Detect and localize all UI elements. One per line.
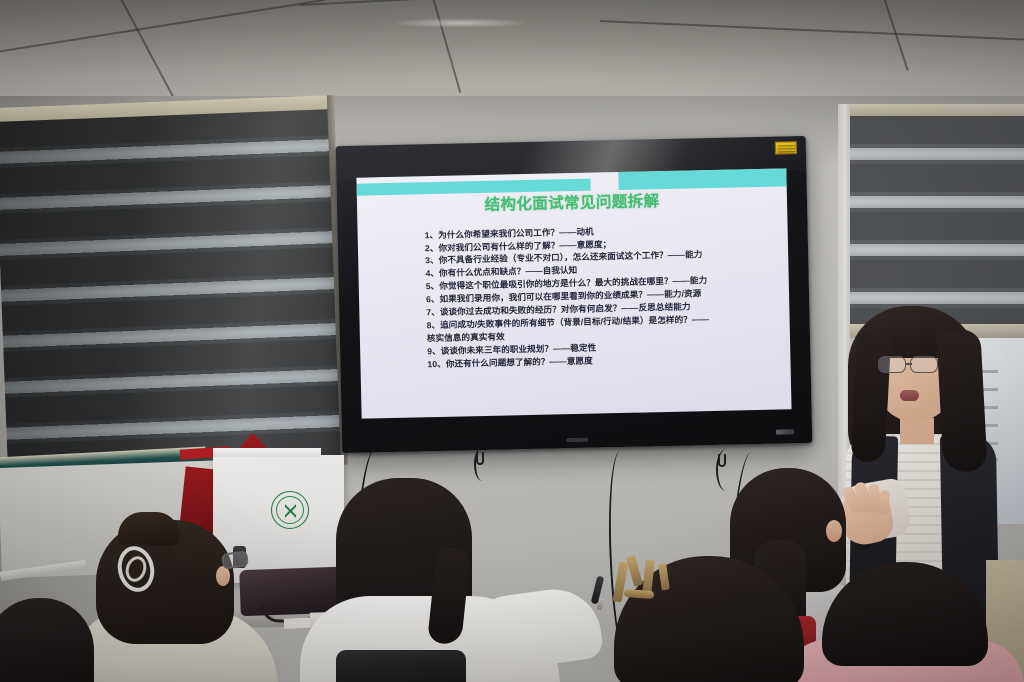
ceiling-tile-seam [879,0,909,71]
ceiling [0,0,1024,104]
audience-left-bun [118,512,180,546]
blind-light-sheen [0,109,348,478]
ceiling-tile-seam [429,0,461,93]
tv-asset-sticker [775,141,797,154]
presenter-mouth [900,390,919,401]
ceiling-tile-seam [0,0,326,54]
glasses-icon [910,356,938,373]
wall-mounted-tv[interactable]: 结构化面试常见问题拆解 1、为什么你希望来我们公司工作？——动机 2、你对我们公… [336,136,813,453]
cable-loop [718,454,726,467]
left-window-blind [0,95,348,478]
presenter-hair-right [936,329,987,473]
glasses-bridge [906,363,912,365]
lectern-top-ledge [213,448,321,457]
audience-ear [826,520,842,542]
ceiling-tile-seam [600,20,1024,41]
slide-question-list: 1、为什么你希望来我们公司工作？——动机 2、你对我们公司有什么样的了解？——意… [385,221,778,371]
blind-slats [850,116,1024,328]
chair-back [336,650,466,682]
ceiling-tile-seam [300,0,720,6]
tv-power-indicator [566,438,588,442]
ceiling-light-reflection [390,18,530,28]
institution-emblem-icon [271,491,309,529]
cable-loop [476,452,484,465]
presentation-slide: 结构化面试常见问题拆解 1、为什么你希望来我们公司工作？——动机 2、你对我们公… [356,168,791,418]
presenter-hair-left [851,331,892,463]
classroom-presentation-photo: 结构化面试常见问题拆解 1、为什么你希望来我们公司工作？——动机 2、你对我们公… [0,0,1024,682]
glasses-icon [878,356,906,373]
gold-hair-clip [614,556,686,614]
right-window-blind [850,104,1024,340]
tv-brand-logo [776,429,794,434]
